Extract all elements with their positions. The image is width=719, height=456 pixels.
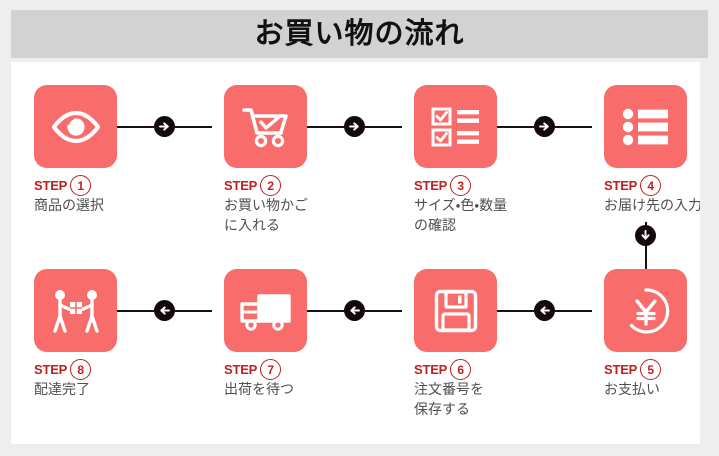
step-3-label-line: STEP 3: [414, 176, 574, 195]
step-5-description: お支払い: [604, 380, 700, 400]
step-2-tile: [224, 85, 307, 168]
step-5-number: 5: [640, 359, 661, 380]
step-1-word: STEP: [34, 179, 67, 192]
step-5-caption: STEP 5 お支払い: [604, 360, 700, 400]
step-2-description: お買い物かご に入れる: [224, 196, 384, 236]
flow-row-bottom: STEP 8 配達完了: [11, 258, 700, 438]
step-4-tile: [604, 85, 687, 168]
step-7-label-line: STEP 7: [224, 360, 384, 379]
floppy-disk-save-icon: [434, 289, 478, 333]
step-node-2: STEP 2 お買い物かご に入れる: [209, 74, 381, 254]
step-5-tile: [604, 269, 687, 352]
step-7-caption: STEP 7 出荷を待つ: [224, 360, 384, 400]
checklist-icon: [431, 107, 481, 147]
step-4-caption: STEP 4 お届け先の入力: [604, 176, 700, 216]
step-3-word: STEP: [414, 179, 447, 192]
step-2-number: 2: [260, 175, 281, 196]
step-8-label-line: STEP 8: [34, 360, 194, 379]
step-3-description: サイズ・色・数量 の確認: [414, 196, 589, 236]
step-4-number: 4: [640, 175, 661, 196]
eye-icon: [50, 108, 102, 146]
step-6-caption: STEP 6 注文番号を 保存する: [414, 360, 574, 420]
delivery-truck-icon: [239, 291, 293, 331]
step-6-word: STEP: [414, 363, 447, 376]
step-7-description: 出荷を待つ: [224, 380, 384, 400]
step-7-word: STEP: [224, 363, 257, 376]
step-8-word: STEP: [34, 363, 67, 376]
step-1-tile: [34, 85, 117, 168]
step-4-label-line: STEP 4: [604, 176, 700, 195]
step-3-caption: STEP 3 サイズ・色・数量 の確認: [414, 176, 574, 236]
flow-row-top: STEP 1 商品の選択: [11, 74, 700, 254]
step-7-number: 7: [260, 359, 281, 380]
step-node-6: STEP 6 注文番号を 保存する: [399, 258, 571, 438]
step-5-label-line: STEP 5: [604, 360, 700, 379]
arrow-step4-to-step5: [635, 225, 656, 246]
step-1-description: 商品の選択: [34, 196, 194, 216]
step-8-caption: STEP 8 配達完了: [34, 360, 194, 400]
step-6-description: 注文番号を 保存する: [414, 380, 574, 420]
step-node-1: STEP 1 商品の選択: [19, 74, 191, 254]
step-node-8: STEP 8 配達完了: [19, 258, 191, 438]
bullet-list-icon: [622, 108, 670, 146]
step-node-3: STEP 3 サイズ・色・数量 の確認: [399, 74, 571, 254]
step-8-description: 配達完了: [34, 380, 194, 400]
step-1-caption: STEP 1 商品の選択: [34, 176, 194, 216]
shopping-cart-icon: [241, 105, 291, 149]
step-5-word: STEP: [604, 363, 637, 376]
step-1-label-line: STEP 1: [34, 176, 194, 195]
package-handover-icon: [49, 289, 103, 333]
step-4-word: STEP: [604, 179, 637, 192]
yen-circle-icon: [622, 287, 670, 335]
step-1-number: 1: [70, 175, 91, 196]
step-node-5: STEP 5 お支払い: [589, 258, 700, 438]
step-3-tile: [414, 85, 497, 168]
step-6-number: 6: [450, 359, 471, 380]
header-band: お買い物の流れ: [11, 10, 708, 58]
step-6-label-line: STEP 6: [414, 360, 574, 379]
page-title: お買い物の流れ: [254, 20, 464, 49]
step-7-tile: [224, 269, 307, 352]
step-4-description: お届け先の入力: [604, 196, 700, 216]
step-node-7: STEP 7 出荷を待つ: [209, 258, 381, 438]
step-2-word: STEP: [224, 179, 257, 192]
step-8-number: 8: [70, 359, 91, 380]
step-2-label-line: STEP 2: [224, 176, 384, 195]
shopping-flow-infographic: お買い物の流れ: [0, 0, 719, 456]
step-2-caption: STEP 2 お買い物かご に入れる: [224, 176, 384, 236]
step-6-tile: [414, 269, 497, 352]
flow-panel: STEP 1 商品の選択: [11, 62, 700, 444]
step-8-tile: [34, 269, 117, 352]
step-3-number: 3: [450, 175, 471, 196]
